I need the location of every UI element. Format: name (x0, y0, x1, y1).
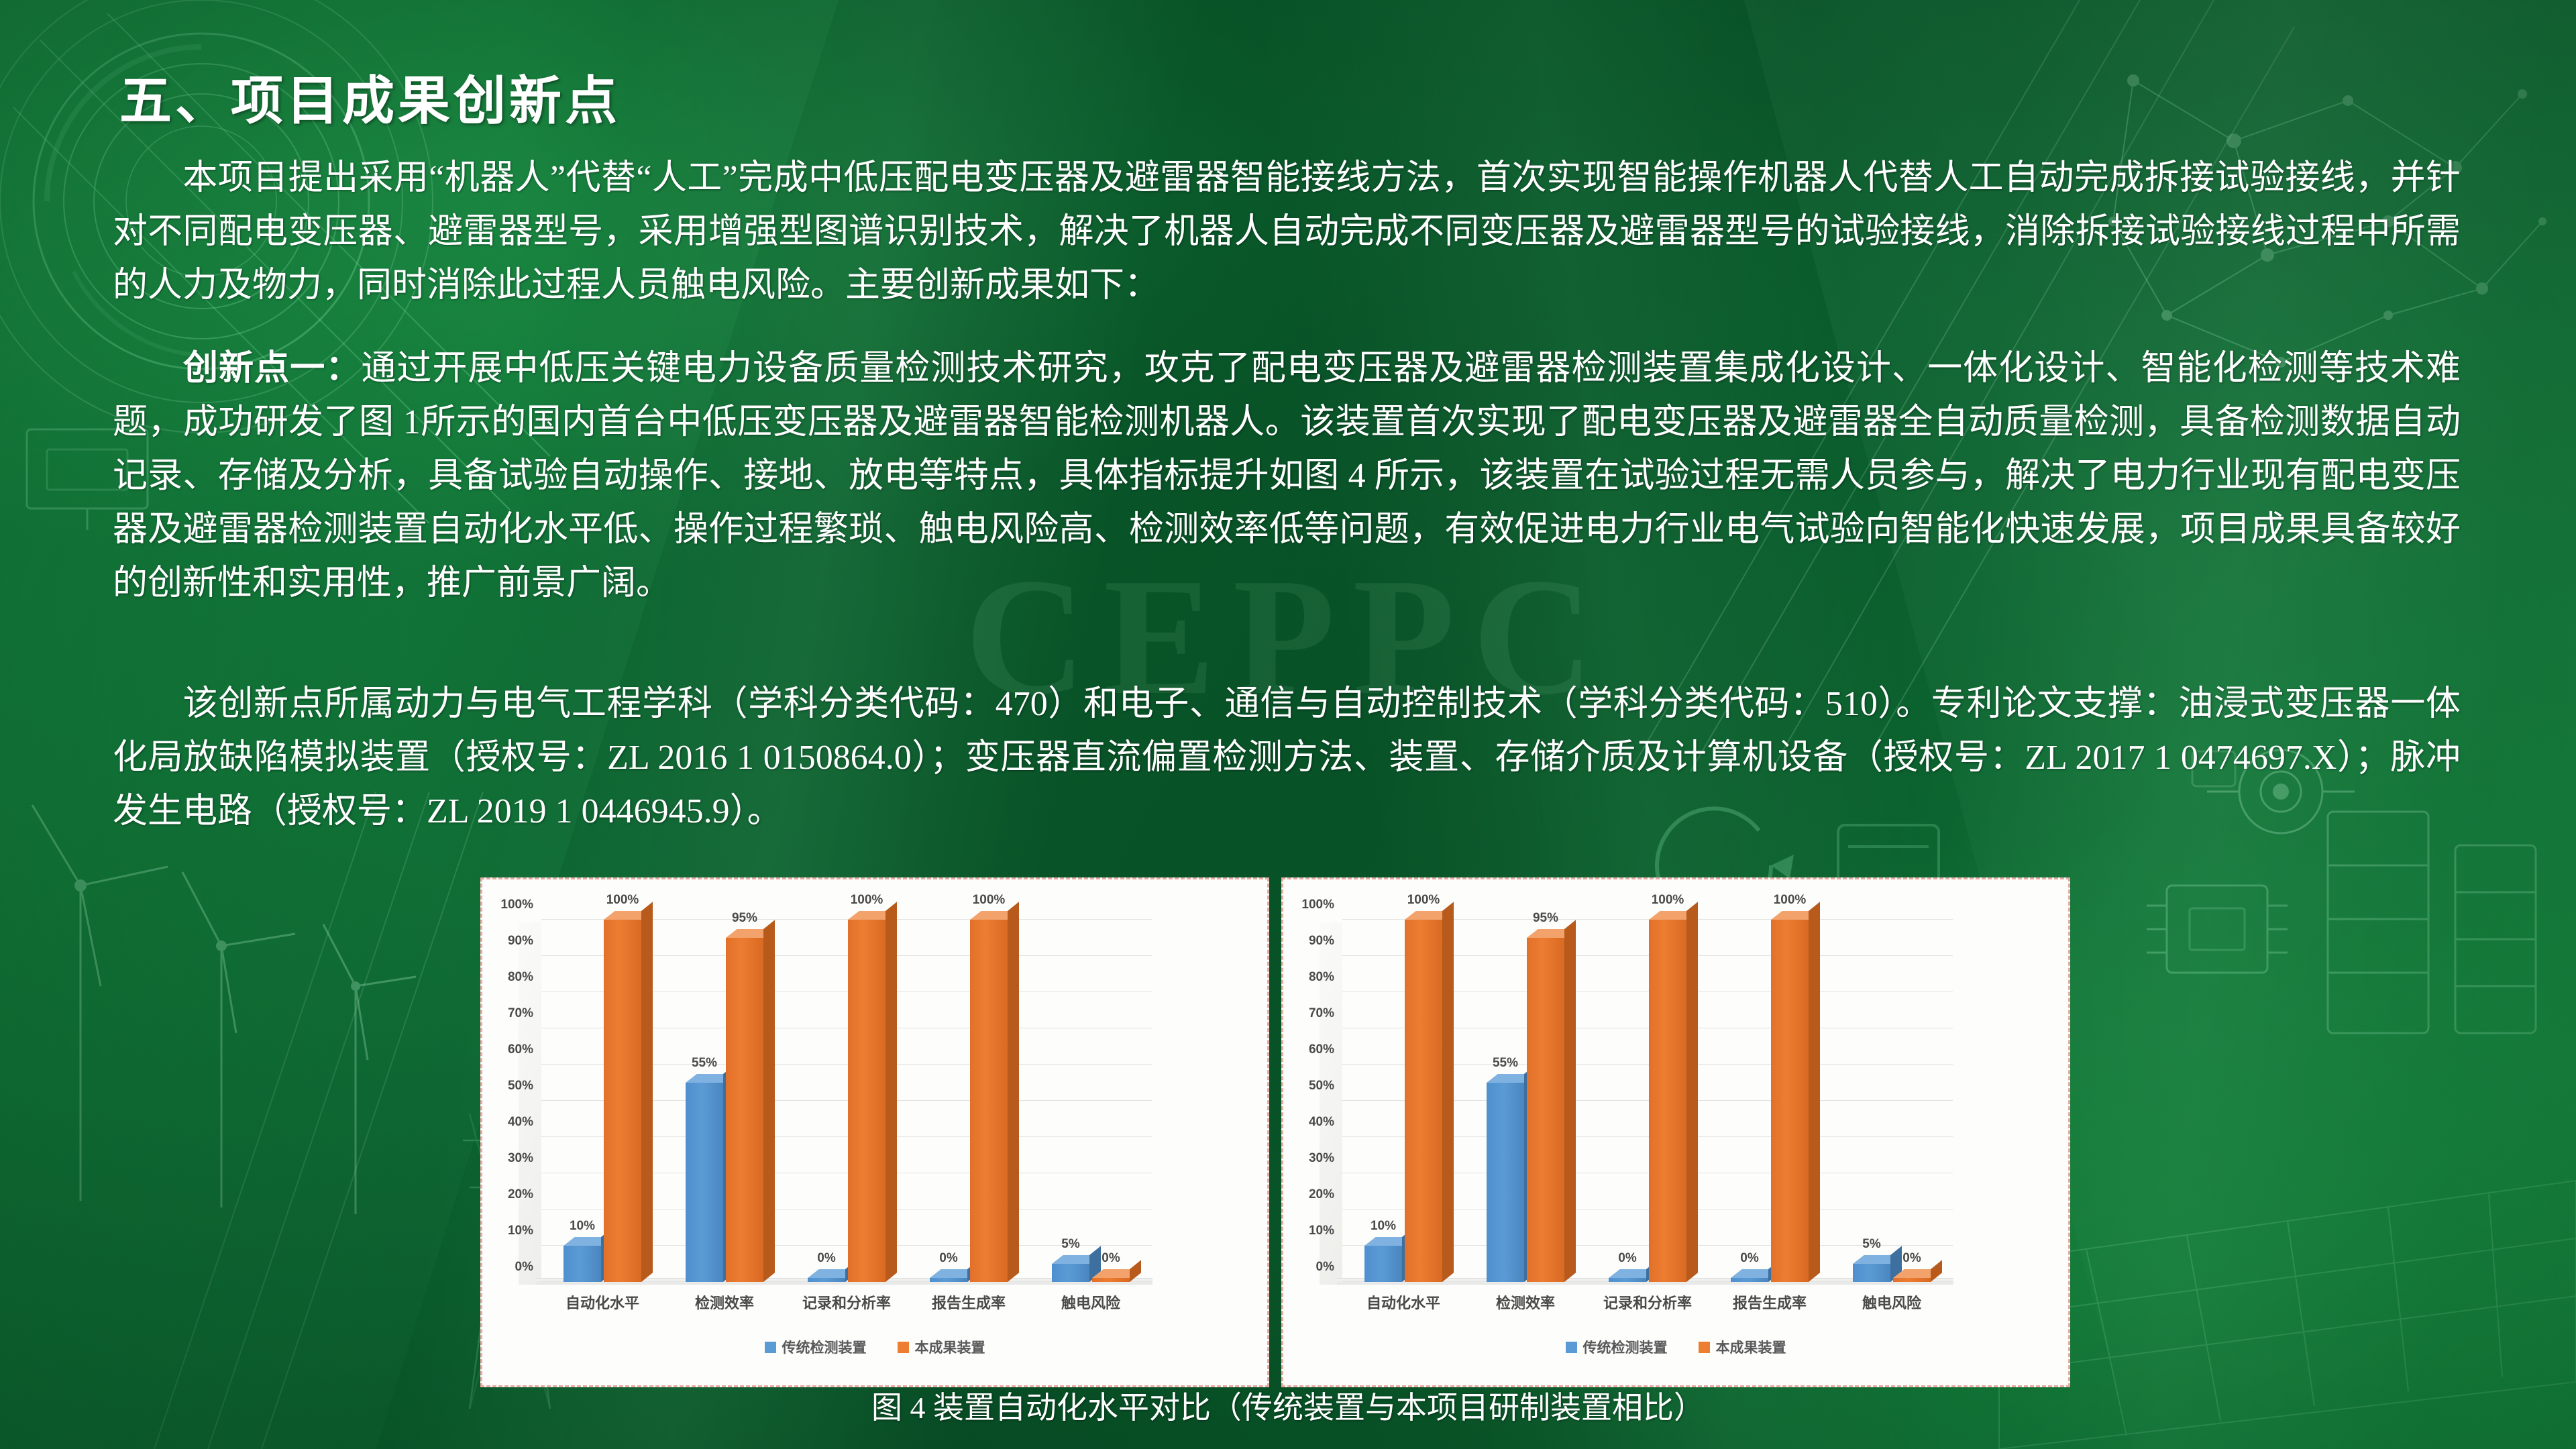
x-axis-labels-right: 自动化水平检测效率记录和分析率报告生成率触电风险 (1342, 1291, 1953, 1313)
bar-side (1809, 902, 1820, 1282)
bar-face (726, 938, 763, 1282)
chart-panel-right: 100%90%80%70%60%50%40%30%20%10%0% 10%100… (1281, 877, 2070, 1387)
y-axis-tick-label: 10% (508, 1224, 533, 1238)
chart-area-right: 100%90%80%70%60%50%40%30%20%10%0% 10%100… (1290, 889, 2061, 1380)
y-axis-tick-label: 10% (1309, 1224, 1334, 1238)
bar-face (1487, 1083, 1524, 1282)
y-axis-tick-label: 0% (1316, 1260, 1334, 1275)
y-axis-tick-label: 50% (1309, 1079, 1334, 1093)
paragraph-intro: 本项目提出采用“机器人”代替“人工”完成中低压配电变压器及避雷器智能接线方法，首… (113, 152, 2461, 313)
bar-value-label: 100% (1407, 893, 1440, 908)
chart-area-left: 100%90%80%70%60%50%40%30%20%10%0% 10%100… (489, 889, 1260, 1380)
bar-side (763, 920, 775, 1282)
bar-face (1092, 1278, 1130, 1282)
bar-face (808, 1278, 845, 1282)
discipline-patents-text: 该创新点所属动力与电气工程学科（学科分类代码：470）和电子、通信与自动控制技术… (113, 685, 2461, 830)
chart-legend-left: 传统检测装置本成果装置 (489, 1337, 1260, 1357)
y-axis-tick-label: 20% (508, 1187, 533, 1202)
bar-group: 0%100% (786, 920, 908, 1282)
x-axis-category-label: 记录和分析率 (1587, 1291, 1709, 1313)
y-axis-tick-label: 80% (508, 970, 533, 985)
figure-caption: 图 4 装置自动化水平对比（传统装置与本项目研制装置相比） (0, 1383, 2576, 1428)
bar-result: 100% (970, 920, 1008, 1282)
legend-label: 本成果装置 (1716, 1337, 1786, 1357)
y-axis-tick-label: 40% (508, 1115, 533, 1130)
bar-side (1931, 1260, 1942, 1282)
x-axis-labels-left: 自动化水平检测效率记录和分析率报告生成率触电风险 (541, 1291, 1152, 1313)
legend-color-swatch (765, 1342, 776, 1353)
legend-label: 传统检测装置 (1583, 1337, 1668, 1357)
bar-face (686, 1083, 723, 1282)
legend-item: 本成果装置 (1699, 1337, 1786, 1357)
bar-traditional: 5% (1052, 1264, 1089, 1282)
innovation-one-text: 通过开展中低压关键电力设备质量检测技术研究，攻克了配电变压器及避雷器检测装置集成… (113, 350, 2461, 602)
bar-group: 55%95% (663, 920, 786, 1282)
bar-traditional: 0% (930, 1278, 967, 1282)
x-axis-category-label: 触电风险 (1030, 1291, 1152, 1313)
bar-value-label: 10% (570, 1219, 595, 1234)
bar-value-label: 55% (692, 1056, 717, 1071)
bar-group: 10%100% (541, 920, 663, 1282)
bar-face (1527, 938, 1564, 1282)
y-axis-tick-label: 80% (1309, 970, 1334, 985)
bar-face (848, 920, 885, 1282)
bar-side (1686, 902, 1698, 1282)
legend-item: 本成果装置 (898, 1337, 985, 1357)
bar-result: 0% (1893, 1278, 1931, 1282)
bar-face (930, 1278, 967, 1282)
bar-value-label: 0% (1102, 1251, 1120, 1266)
bar-face (1364, 1246, 1402, 1282)
bar-result: 0% (1092, 1278, 1130, 1282)
x-axis-category-label: 报告生成率 (908, 1291, 1030, 1313)
page-title: 五、项目成果创新点 (119, 59, 621, 134)
bar-value-label: 95% (1533, 911, 1558, 926)
slide-content: 五、项目成果创新点 本项目提出采用“机器人”代替“人工”完成中低压配电变压器及避… (0, 0, 2576, 1449)
legend-item: 传统检测装置 (765, 1337, 867, 1357)
x-axis-category-label: 自动化水平 (541, 1291, 663, 1313)
y-axis-tick-label: 30% (508, 1151, 533, 1166)
figure-chart-group: 100%90%80%70%60%50%40%30%20%10%0% 10%100… (480, 877, 2070, 1387)
bar-side (1130, 1260, 1141, 1282)
plot-area-left: 100%90%80%70%60%50%40%30%20%10%0% 10%100… (541, 920, 1152, 1282)
bar-face (970, 920, 1008, 1282)
bar-side (641, 902, 653, 1282)
bar-traditional: 10% (1364, 1246, 1402, 1282)
chart-legend-right: 传统检测装置本成果装置 (1290, 1337, 2061, 1357)
legend-color-swatch (1699, 1342, 1710, 1353)
bar-value-label: 0% (1618, 1251, 1636, 1266)
bar-result: 95% (726, 938, 763, 1282)
bar-traditional: 0% (1731, 1278, 1768, 1282)
bar-traditional: 5% (1853, 1264, 1890, 1282)
bar-side (885, 902, 897, 1282)
x-axis-category-label: 自动化水平 (1342, 1291, 1464, 1313)
bar-value-label: 100% (973, 893, 1006, 908)
paragraph-intro-text: 本项目提出采用“机器人”代替“人工”完成中低压配电变压器及避雷器智能接线方法，首… (113, 159, 2461, 305)
legend-color-swatch (898, 1342, 909, 1353)
bar-face (604, 920, 641, 1282)
x-axis-category-label: 触电风险 (1831, 1291, 1953, 1313)
bar-face (1405, 920, 1442, 1282)
bar-result: 100% (1771, 920, 1809, 1282)
bar-face (1853, 1264, 1890, 1282)
bar-value-label: 100% (1774, 893, 1807, 908)
chart-panel-left: 100%90%80%70%60%50%40%30%20%10%0% 10%100… (480, 877, 1269, 1387)
y-axis-tick-label: 60% (1309, 1042, 1334, 1057)
bar-traditional: 0% (1609, 1278, 1646, 1282)
bar-result: 100% (604, 920, 641, 1282)
bar-group: 0%100% (1709, 920, 1831, 1282)
bar-traditional: 55% (686, 1083, 723, 1282)
x-axis-category-label: 检测效率 (1464, 1291, 1587, 1313)
bar-face (1609, 1278, 1646, 1282)
y-axis-tick-label: 60% (508, 1042, 533, 1057)
bar-value-label: 95% (732, 911, 757, 926)
y-axis-tick-label: 30% (1309, 1151, 1334, 1166)
bar-value-label: 100% (1652, 893, 1684, 908)
bar-traditional: 55% (1487, 1083, 1524, 1282)
bar-group: 10%100% (1342, 920, 1464, 1282)
bar-value-label: 100% (606, 893, 639, 908)
bar-groups-left: 10%100%55%95%0%100%0%100%5%0% (541, 920, 1152, 1282)
y-axis-tick-label: 0% (515, 1260, 533, 1275)
legend-color-swatch (1566, 1342, 1577, 1353)
bar-result: 100% (1405, 920, 1442, 1282)
bar-result: 100% (848, 920, 885, 1282)
y-axis-tick-label: 100% (500, 898, 533, 912)
bar-face (563, 1246, 601, 1282)
bar-value-label: 100% (851, 893, 883, 908)
x-axis-category-label: 记录和分析率 (786, 1291, 908, 1313)
y-axis-tick-label: 20% (1309, 1187, 1334, 1202)
bar-group: 0%100% (908, 920, 1030, 1282)
bar-value-label: 5% (1061, 1237, 1079, 1252)
bar-value-label: 10% (1371, 1219, 1396, 1234)
bar-face (1052, 1264, 1089, 1282)
legend-label: 本成果装置 (915, 1337, 985, 1357)
x-axis-category-label: 检测效率 (663, 1291, 786, 1313)
bar-face (1771, 920, 1809, 1282)
bar-value-label: 0% (1740, 1251, 1758, 1266)
paragraph-discipline-patents: 该创新点所属动力与电气工程学科（学科分类代码：470）和电子、通信与自动控制技术… (113, 678, 2461, 839)
bar-value-label: 0% (939, 1251, 957, 1266)
bar-groups-right: 10%100%55%95%0%100%0%100%5%0% (1342, 920, 1953, 1282)
legend-label: 传统检测装置 (782, 1337, 867, 1357)
legend-item: 传统检测装置 (1566, 1337, 1668, 1357)
innovation-one-lead: 创新点一： (182, 350, 361, 388)
bar-value-label: 55% (1493, 1056, 1518, 1071)
y-axis-tick-label: 50% (508, 1079, 533, 1093)
bar-side (1442, 902, 1454, 1282)
bar-traditional: 0% (808, 1278, 845, 1282)
bar-face (1893, 1278, 1931, 1282)
y-axis-tick-label: 70% (508, 1006, 533, 1021)
bar-result: 100% (1649, 920, 1686, 1282)
y-axis-tick-label: 70% (1309, 1006, 1334, 1021)
bar-face (1649, 920, 1686, 1282)
bar-face (1731, 1278, 1768, 1282)
bar-group: 55%95% (1464, 920, 1587, 1282)
bar-traditional: 10% (563, 1246, 601, 1282)
y-axis-tick-label: 100% (1301, 898, 1334, 912)
bar-value-label: 0% (1902, 1251, 1921, 1266)
bar-side (1564, 920, 1576, 1282)
bar-value-label: 0% (817, 1251, 835, 1266)
plot-area-right: 100%90%80%70%60%50%40%30%20%10%0% 10%100… (1342, 920, 1953, 1282)
y-axis-tick-label: 90% (1309, 934, 1334, 949)
bar-side (1008, 902, 1019, 1282)
y-axis-tick-label: 90% (508, 934, 533, 949)
y-axis-tick-label: 40% (1309, 1115, 1334, 1130)
bar-group: 5%0% (1831, 920, 1953, 1282)
bar-group: 0%100% (1587, 920, 1709, 1282)
bar-value-label: 5% (1862, 1237, 1880, 1252)
bar-group: 5%0% (1030, 920, 1152, 1282)
x-axis-category-label: 报告生成率 (1709, 1291, 1831, 1313)
paragraph-innovation-one: 创新点一：通过开展中低压关键电力设备质量检测技术研究，攻克了配电变压器及避雷器检… (113, 342, 2461, 610)
bar-result: 95% (1527, 938, 1564, 1282)
